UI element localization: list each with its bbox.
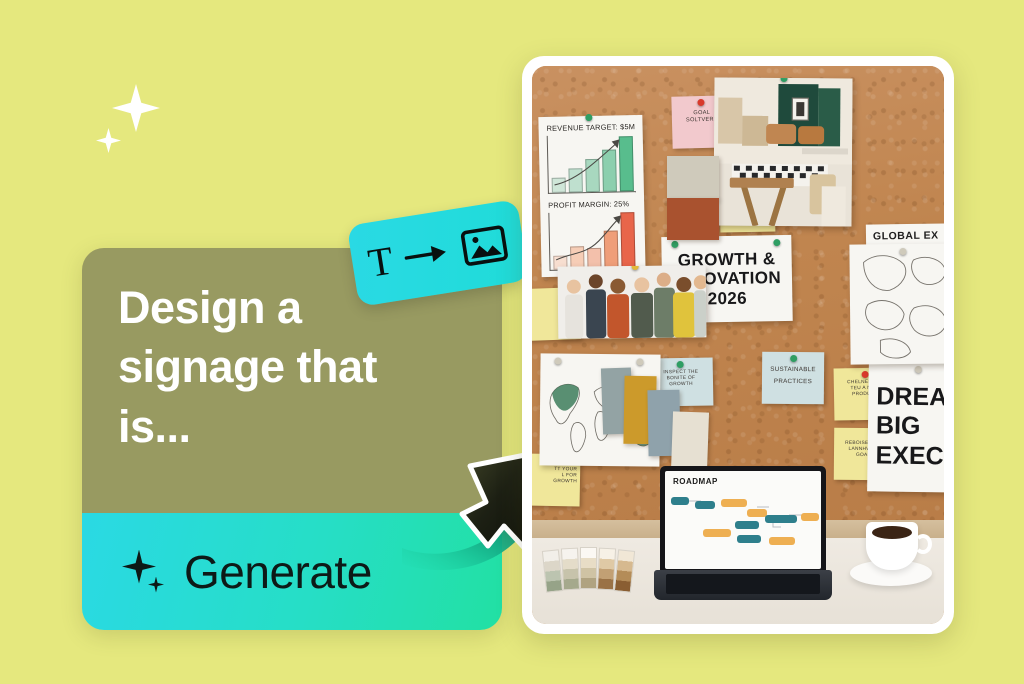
- arrow-right-icon: [403, 239, 452, 270]
- metrics-chart-paper: REVENUE TARGET: $5M PROFIT MARGIN: 25%: [538, 115, 645, 277]
- sticky-note-sustainable-practices: SUSTAINABLE PRACTICES: [762, 352, 824, 405]
- sparkle-icon: [122, 548, 170, 596]
- moodboard-image-frame: REVENUE TARGET: $5M PROFIT MARGIN: 25%: [522, 56, 954, 634]
- chart-title-revenue: REVENUE TARGET: $5M: [546, 122, 634, 133]
- moodboard-scene: REVENUE TARGET: $5M PROFIT MARGIN: 25%: [532, 66, 944, 624]
- coffee-liquid: [872, 526, 912, 539]
- prompt-card: Design a signage that is... Generate: [82, 248, 502, 630]
- team-photo: [558, 265, 707, 339]
- fabric-swatch-cream: [671, 411, 709, 472]
- generate-button-label: Generate: [184, 545, 372, 599]
- chart-title-margin: PROFIT MARGIN: 25%: [548, 199, 636, 210]
- interior-photo: [713, 78, 852, 227]
- roadmap-diagram: ROADMAP: [665, 471, 821, 569]
- coffee-handle: [914, 534, 932, 554]
- coffee-cup: [866, 522, 918, 570]
- prompt-text: Design a signage that is...: [118, 278, 472, 456]
- color-swatch-fan: [544, 544, 652, 596]
- laptop-base: [654, 570, 832, 600]
- margin-bar-chart: [548, 211, 637, 271]
- text-icon: T: [366, 240, 396, 283]
- laptop-screen: ROADMAP: [660, 466, 826, 574]
- fabric-swatch-grey: [667, 156, 719, 200]
- laptop-keyboard: [666, 574, 820, 594]
- sparkle-icon: [112, 84, 160, 132]
- world-map-sketch-right: [849, 243, 944, 364]
- laptop: ROADMAP: [654, 466, 832, 616]
- image-icon: [459, 222, 511, 269]
- generate-button[interactable]: Generate: [82, 513, 502, 630]
- fabric-swatch-rust: [667, 198, 719, 240]
- sparkle-icon: [96, 128, 121, 153]
- poster-dream-big-execute: DREA BIG EXECU: [867, 361, 944, 492]
- revenue-bar-chart: [547, 134, 636, 194]
